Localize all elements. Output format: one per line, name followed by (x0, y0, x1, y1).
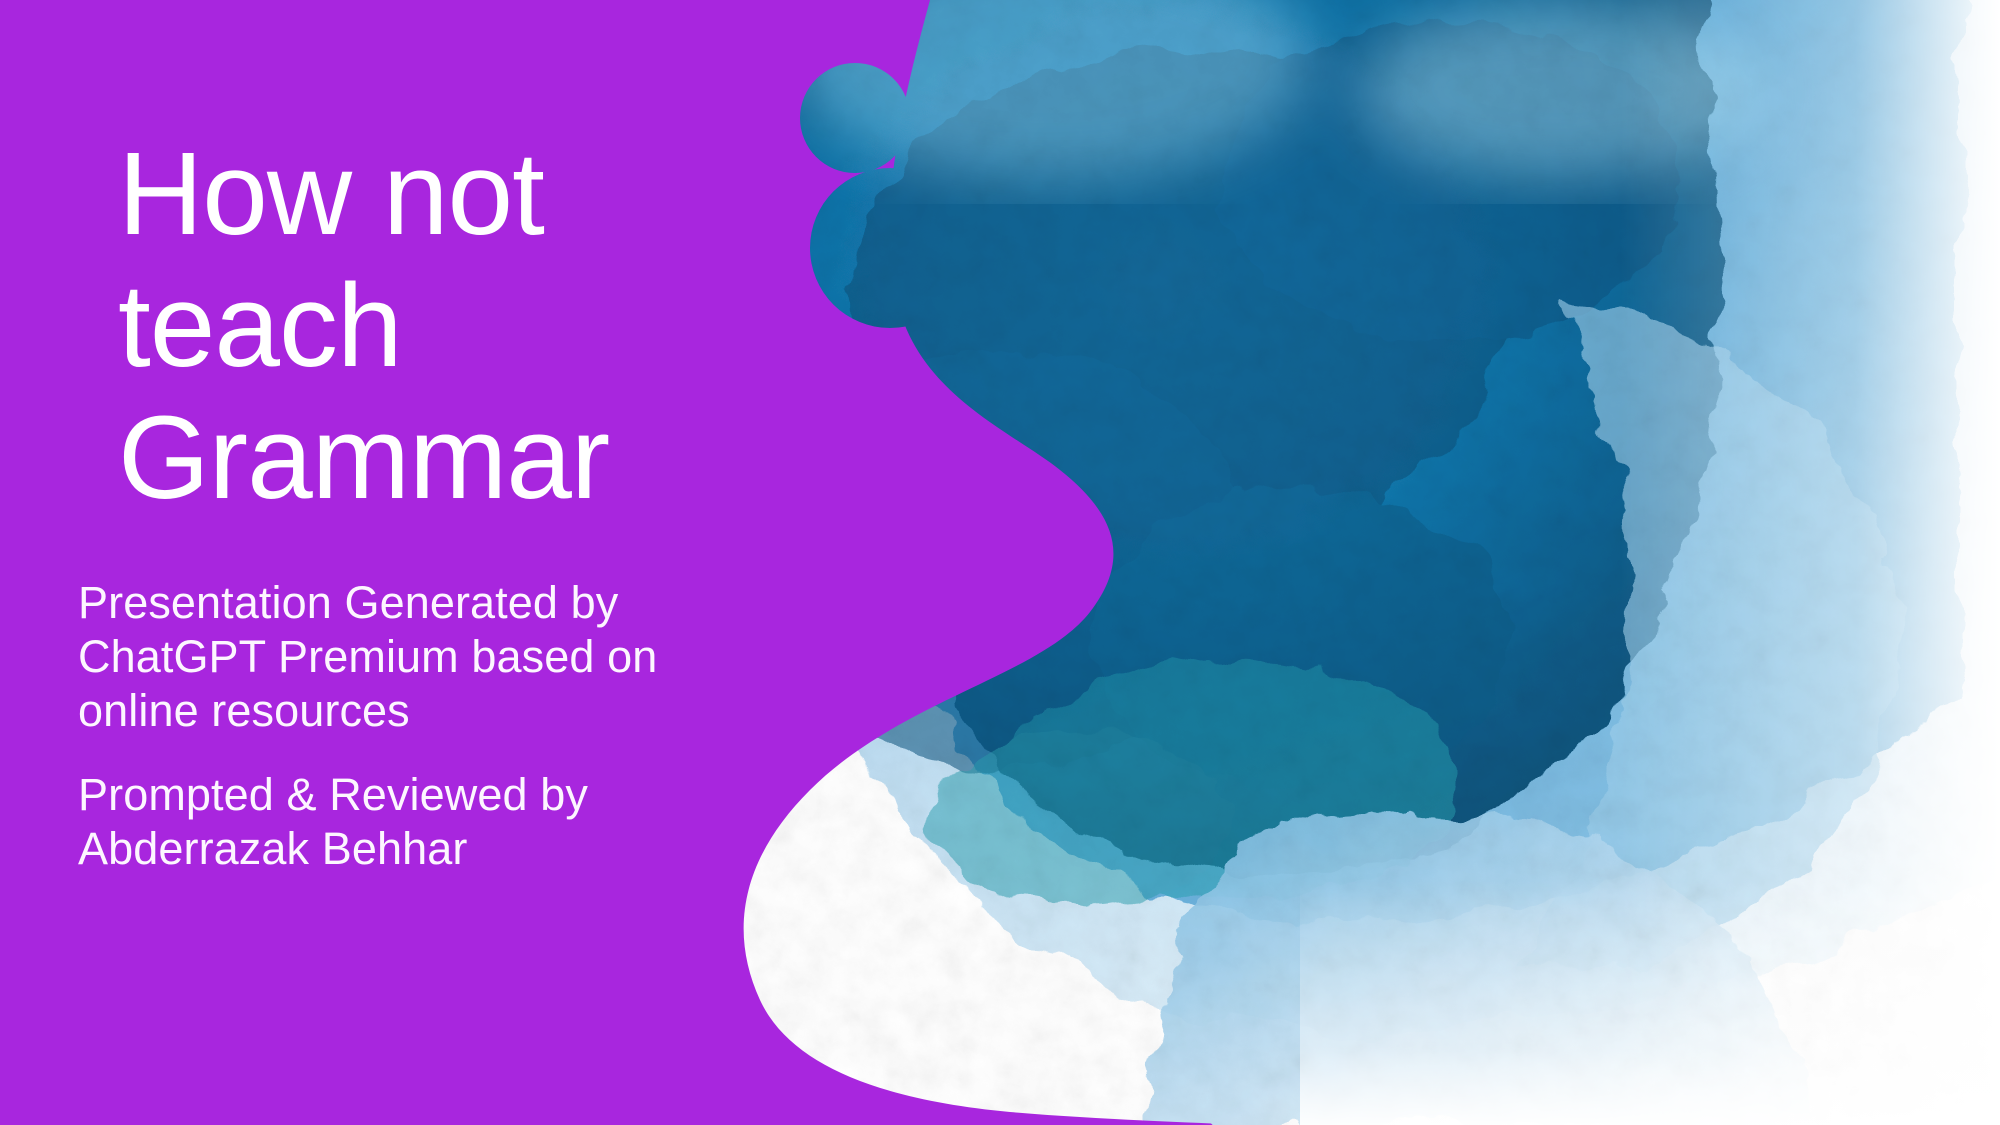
slide-text-block: How not teach Grammar Presentation Gener… (118, 128, 718, 876)
presentation-slide: How not teach Grammar Presentation Gener… (0, 0, 2000, 1125)
page-title: How not teach Grammar (118, 128, 718, 524)
slide-subtitle-block: Presentation Generated by ChatGPT Premiu… (78, 576, 718, 876)
subtitle-line-2: Prompted & Reviewed by Abderrazak Behhar (78, 768, 678, 876)
subtitle-line-1: Presentation Generated by ChatGPT Premiu… (78, 576, 678, 738)
